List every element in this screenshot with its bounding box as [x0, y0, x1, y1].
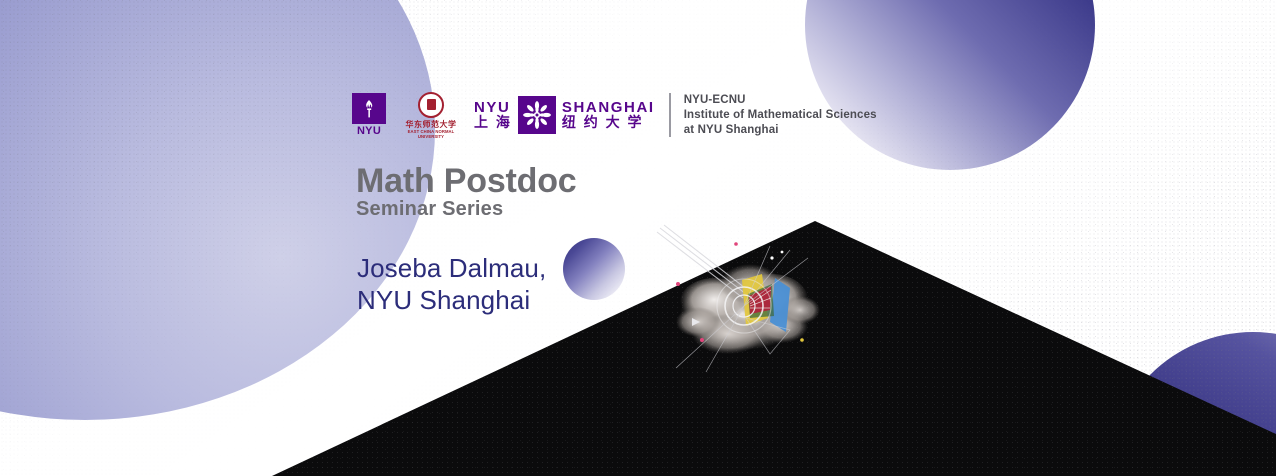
nyush-left-text: NYU 上 海 [474, 100, 512, 130]
institute-line-3: at NYU Shanghai [684, 123, 877, 138]
ecnu-chinese-name: 华东师范大学 [400, 120, 462, 129]
nyush-right-han: 纽 约 大 学 [562, 115, 644, 130]
speaker-block: Joseba Dalmau, NYU Shanghai [357, 252, 546, 316]
institute-line-1: NYU-ECNU [684, 93, 877, 108]
torch-icon [361, 99, 377, 119]
nyush-right-latin: SHANGHAI [562, 100, 655, 115]
ecnu-seal-inner [427, 99, 436, 110]
institute-name: NYU-ECNU Institute of Mathematical Scien… [684, 93, 877, 138]
nyu-shanghai-logo: NYU 上 海 [474, 96, 655, 134]
nyu-logo: NYU [352, 93, 386, 137]
decorative-circle-top-right [805, 0, 1095, 170]
decorative-circle-middle [563, 238, 625, 300]
particle-collision-graphic [650, 222, 860, 382]
nyu-torch-icon [352, 93, 386, 124]
nyu-shanghai-flower-icon [518, 96, 556, 134]
nyush-left-latin: NYU [474, 100, 512, 115]
nyush-left-han: 上 海 [474, 115, 512, 130]
ecnu-seal-icon [418, 92, 444, 118]
page-title: Math Postdoc [356, 162, 577, 200]
ecnu-logo: 华东师范大学 EAST CHINA NORMAL UNIVERSITY [400, 92, 462, 139]
speaker-name: Joseba Dalmau, [357, 252, 546, 284]
institute-line-2: Institute of Mathematical Sciences [684, 108, 877, 123]
page-subtitle: Seminar Series [356, 198, 503, 221]
logo-lockup: NYU 华东师范大学 EAST CHINA NORMAL UNIVERSITY … [352, 90, 877, 140]
background-decorations [0, 0, 1276, 476]
ecnu-english-line1: EAST CHINA NORMAL [400, 129, 462, 134]
nyush-right-text: SHANGHAI 纽 约 大 学 [562, 100, 655, 130]
logo-divider [669, 93, 671, 137]
nyu-wordmark: NYU [357, 125, 381, 137]
speaker-affiliation: NYU Shanghai [357, 284, 546, 316]
ecnu-english-line2: UNIVERSITY [400, 134, 462, 139]
chrysanthemum-icon [522, 100, 552, 130]
seminar-banner: NYU 华东师范大学 EAST CHINA NORMAL UNIVERSITY … [0, 0, 1276, 476]
